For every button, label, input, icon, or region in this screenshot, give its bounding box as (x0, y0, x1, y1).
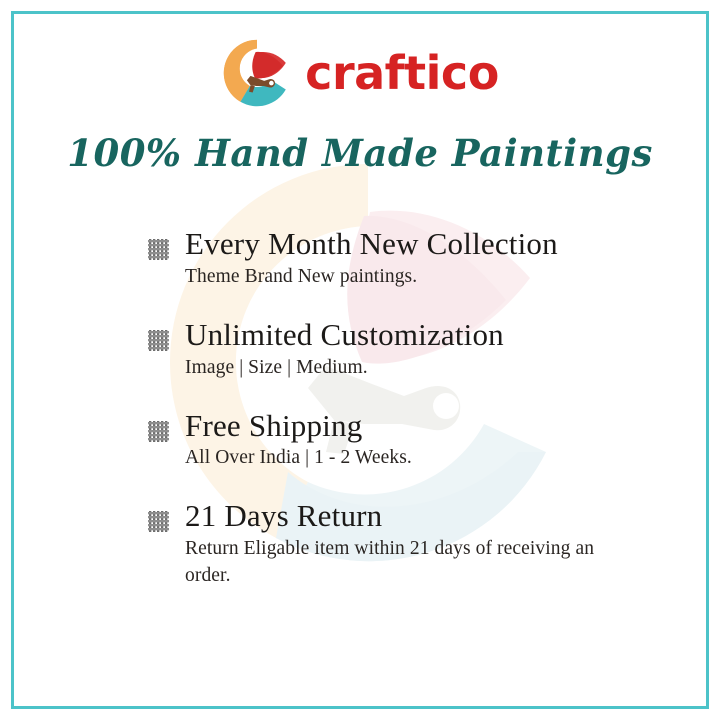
infographic-banner: craftico 100% Hand Made Paintings (0, 0, 720, 720)
feature-list: Every Month New Collection Theme Brand N… (148, 228, 618, 590)
list-item: Every Month New Collection Theme Brand N… (148, 228, 618, 291)
craftico-paintbrush-c-logo-icon (221, 37, 293, 109)
feature-subtitle: All Over India | 1 - 2 Weeks. (185, 445, 618, 472)
feature-subtitle: Theme Brand New paintings. (185, 264, 618, 291)
woven-square-bullet-icon (148, 330, 169, 351)
feature-title: Every Month New Collection (185, 228, 618, 261)
feature-title: 21 Days Return (185, 500, 618, 533)
woven-square-bullet-icon (148, 239, 169, 260)
feature-subtitle: Return Eligable item within 21 days of r… (185, 536, 618, 590)
brand-logo: craftico (0, 34, 720, 112)
list-item: 21 Days Return Return Eligable item with… (148, 500, 618, 590)
feature-title: Unlimited Customization (185, 319, 618, 352)
woven-square-bullet-icon (148, 511, 169, 532)
list-item: Unlimited Customization Image | Size | M… (148, 319, 618, 382)
feature-title: Free Shipping (185, 410, 618, 443)
woven-square-bullet-icon (148, 421, 169, 442)
list-item: Free Shipping All Over India | 1 - 2 Wee… (148, 410, 618, 473)
feature-subtitle: Image | Size | Medium. (185, 355, 618, 382)
page-title: 100% Hand Made Paintings (0, 131, 720, 175)
brand-wordmark: craftico (305, 50, 499, 96)
